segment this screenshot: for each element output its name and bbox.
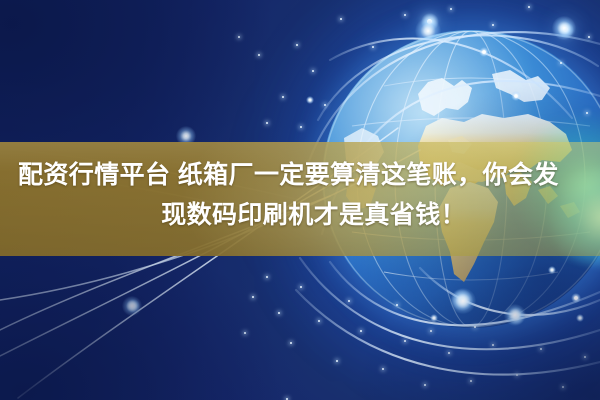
headline-line-1: 配资行情平台 纸箱厂一定要算清这笔账，你会发 <box>16 155 584 195</box>
caption-band: 配资行情平台 纸箱厂一定要算清这笔账，你会发 现数码印刷机才是真省钱！ <box>0 142 600 256</box>
headline-line-2: 现数码印刷机才是真省钱！ <box>16 195 584 235</box>
headline-text: 配资行情平台 纸箱厂一定要算清这笔账，你会发 现数码印刷机才是真省钱！ <box>0 142 600 235</box>
banner-image: 配资行情平台 纸箱厂一定要算清这笔账，你会发 现数码印刷机才是真省钱！ <box>0 0 600 400</box>
